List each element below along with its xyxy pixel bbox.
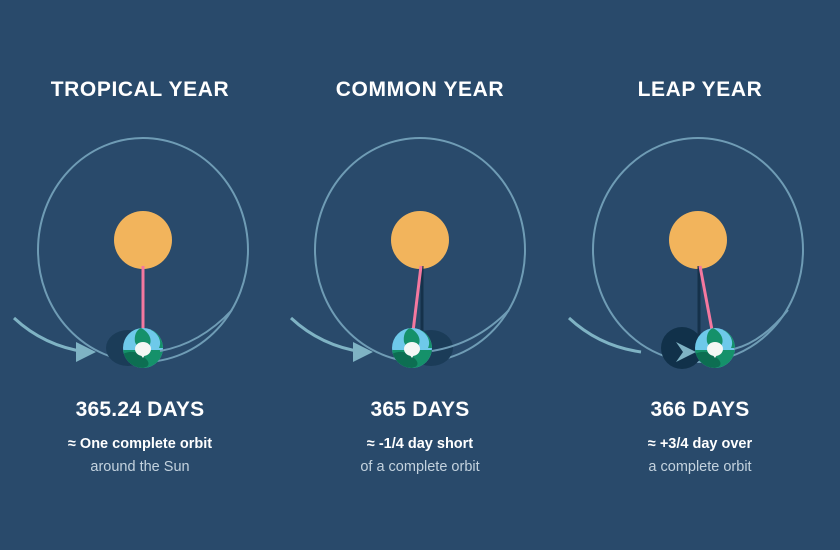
orbit-path-front — [734, 310, 788, 349]
orbit-diagram-common-year — [280, 130, 560, 380]
caption-secondary: of a complete orbit — [280, 459, 560, 475]
earth — [695, 328, 735, 370]
orbit-direction-arrow — [14, 318, 96, 362]
panel-leap-year: LEAP YEAR — [560, 0, 840, 550]
caption-secondary: around the Sun — [0, 459, 280, 475]
caption-secondary: a complete orbit — [560, 459, 840, 475]
caption-primary: ≈ +3/4 day over — [560, 436, 840, 452]
orbit-diagram-tropical-year — [0, 130, 280, 380]
panel-common-year: COMMON YEAR — [280, 0, 560, 550]
orbit-path-front — [160, 310, 232, 351]
caption-days: 365 DAYS — [280, 398, 560, 422]
caption-primary: ≈ One complete orbit — [0, 436, 280, 452]
caption-days: 366 DAYS — [560, 398, 840, 422]
caption-days: 365.24 DAYS — [0, 398, 280, 422]
panel-title: TROPICAL YEAR — [0, 78, 280, 102]
panel-tropical-year: TROPICAL YEAR — [0, 0, 280, 550]
caption-primary: ≈ -1/4 day short — [280, 436, 560, 452]
orbit-diagram-leap-year — [560, 130, 840, 380]
orbit-direction-arrow — [291, 318, 373, 362]
year-length-infographic: TROPICAL YEAR — [0, 0, 840, 550]
panel-title: LEAP YEAR — [560, 78, 840, 102]
sun — [114, 211, 172, 269]
sun — [391, 211, 449, 269]
sun — [669, 211, 727, 269]
panel-title: COMMON YEAR — [280, 78, 560, 102]
